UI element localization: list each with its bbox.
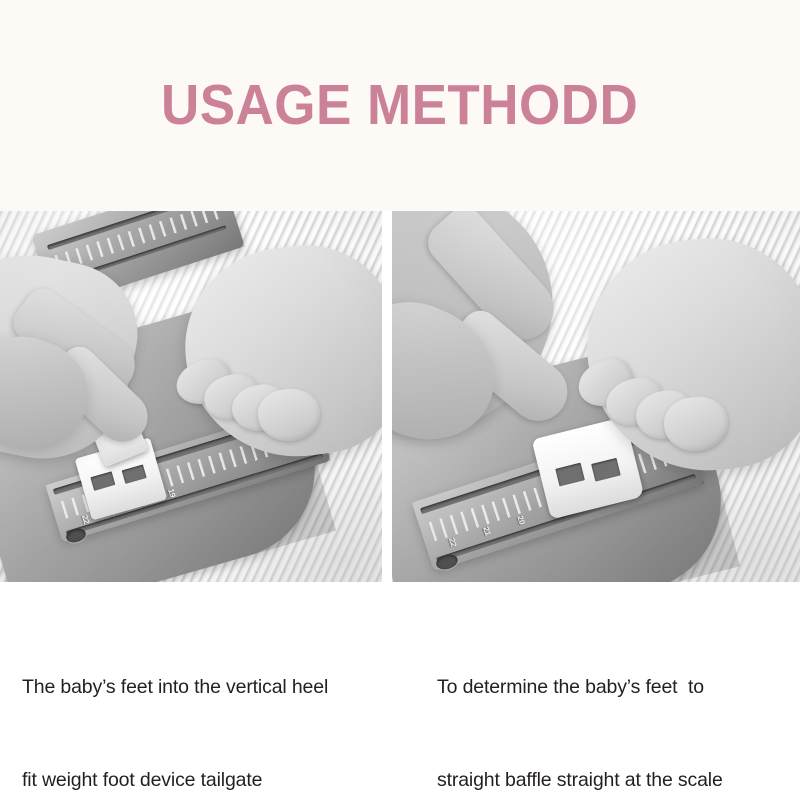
caption-area: The baby’s feet into the vertical heel f… [0,582,800,800]
usage-method-infographic: USAGE METHODD 22 21 [0,0,800,800]
step-1-photo: 22 21 20 19 [0,211,382,582]
caption-line: The baby’s feet into the vertical heel [22,672,374,703]
caption-line: straight baffle straight at the scale [437,765,782,796]
step-2-photo: 22 21 20 19 18 17 [392,211,800,582]
step-1-caption: The baby’s feet into the vertical heel f… [22,610,374,800]
photo-band: 22 21 20 19 [0,211,800,582]
header-banner: USAGE METHODD [0,0,800,211]
page-title: USAGE METHODD [161,77,638,134]
step-2-caption: To determine the baby’s feet to straight… [437,610,782,800]
caption-line: fit weight foot device tailgate [22,765,374,796]
photo-divider [382,211,392,582]
caption-line: To determine the baby’s feet to [437,672,782,703]
